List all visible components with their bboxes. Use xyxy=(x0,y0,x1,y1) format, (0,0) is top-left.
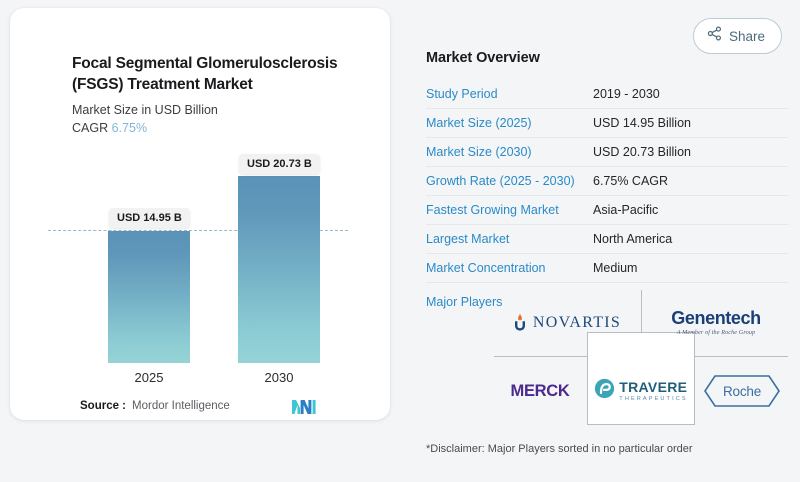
chart-cagr: CAGR 6.75% xyxy=(72,121,147,135)
genentech-tagline: A Member of the Roche Group xyxy=(677,329,755,336)
table-row: Fastest Growing Market Asia-Pacific xyxy=(426,196,788,225)
source-row: Source : Mordor Intelligence xyxy=(80,398,380,414)
major-players-grid: NOVARTIS Genentech A Member of the Roche… xyxy=(494,290,788,425)
player-logo-novartis: NOVARTIS xyxy=(494,295,640,350)
table-row: Market Concentration Medium xyxy=(426,254,788,283)
bar-label-2025: USD 14.95 B xyxy=(109,208,190,228)
novartis-wordmark: NOVARTIS xyxy=(533,314,621,332)
bar-2025[interactable] xyxy=(108,231,190,363)
bar-2030[interactable] xyxy=(238,176,320,363)
row-value: North America xyxy=(593,232,672,246)
row-label: Study Period xyxy=(426,87,593,101)
chart-title: Focal Segmental Glomerulosclerosis (FSGS… xyxy=(72,53,372,96)
travere-swirl-icon xyxy=(594,378,619,404)
table-row: Growth Rate (2025 - 2030) 6.75% CAGR xyxy=(426,167,788,196)
row-value: USD 14.95 Billion xyxy=(593,116,691,130)
mordor-intelligence-logo xyxy=(292,398,316,414)
row-value: 6.75% CAGR xyxy=(593,174,668,188)
cagr-value: 6.75% xyxy=(112,121,147,135)
share-icon xyxy=(707,26,722,46)
source-value: Mordor Intelligence xyxy=(132,400,230,412)
source-label: Source : xyxy=(80,400,126,412)
row-label: Market Concentration xyxy=(426,261,593,275)
row-value: USD 20.73 Billion xyxy=(593,145,691,159)
novartis-flame-icon xyxy=(513,313,533,333)
x-tick-2025: 2025 xyxy=(108,370,190,385)
row-label: Growth Rate (2025 - 2030) xyxy=(426,174,593,188)
player-logo-travere: TRAVERE THERAPEUTICS xyxy=(588,368,694,414)
grid-divider-vertical xyxy=(641,290,642,332)
chart-card: Focal Segmental Glomerulosclerosis (FSGS… xyxy=(10,8,390,420)
share-button[interactable]: Share xyxy=(693,18,782,54)
table-row: Market Size (2030) USD 20.73 Billion xyxy=(426,138,788,167)
player-logo-roche: Roche xyxy=(696,368,788,414)
roche-hexagon-icon xyxy=(703,374,781,408)
bar-label-2030: USD 20.73 B xyxy=(239,154,320,174)
table-row: Market Size (2025) USD 14.95 Billion xyxy=(426,109,788,138)
row-value: Medium xyxy=(593,261,637,275)
travere-wordmark: TRAVERE xyxy=(619,380,687,394)
market-overview-panel: Market Overview Study Period 2019 - 2030… xyxy=(426,50,788,309)
genentech-wordmark: Genentech xyxy=(671,309,760,327)
table-row: Study Period 2019 - 2030 xyxy=(426,80,788,109)
merck-wordmark: MERCK xyxy=(511,382,570,401)
row-label: Largest Market xyxy=(426,232,593,246)
row-label: Market Size (2025) xyxy=(426,116,593,130)
x-tick-2030: 2030 xyxy=(238,370,320,385)
overview-title: Market Overview xyxy=(426,50,788,66)
screenshot-root: Focal Segmental Glomerulosclerosis (FSGS… xyxy=(0,0,800,482)
travere-tagline: THERAPEUTICS xyxy=(619,396,687,402)
row-value: Asia-Pacific xyxy=(593,203,658,217)
chart-subtitle: Market Size in USD Billion xyxy=(72,103,218,117)
row-label: Market Size (2030) xyxy=(426,145,593,159)
table-row: Largest Market North America xyxy=(426,225,788,254)
player-logo-genentech: Genentech A Member of the Roche Group xyxy=(644,295,788,350)
row-label: Fastest Growing Market xyxy=(426,203,593,217)
disclaimer-text: *Disclaimer: Major Players sorted in no … xyxy=(426,443,693,455)
share-label: Share xyxy=(729,29,765,44)
row-value: 2019 - 2030 xyxy=(593,87,660,101)
player-logo-merck: MERCK xyxy=(494,368,586,414)
cagr-label: CAGR xyxy=(72,121,108,135)
